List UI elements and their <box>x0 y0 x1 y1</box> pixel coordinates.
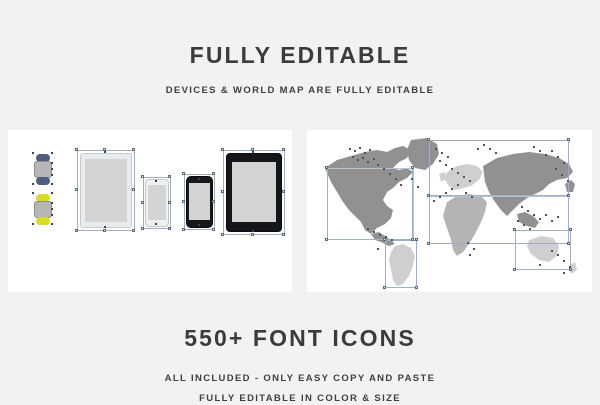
selection-bbox-tablet-light <box>77 150 135 231</box>
page-title-top: FULLY EDITABLE <box>0 42 600 68</box>
handle-s[interactable] <box>103 229 106 232</box>
handle-e2[interactable] <box>51 168 53 170</box>
handle-e[interactable] <box>212 200 215 203</box>
handle-e3[interactable] <box>51 174 53 176</box>
handle-e[interactable] <box>282 190 285 193</box>
devices-panel <box>8 130 292 292</box>
handle-sw[interactable] <box>182 228 185 231</box>
handle-e1[interactable] <box>51 162 53 164</box>
handle-sw[interactable] <box>141 227 144 230</box>
handle-w[interactable] <box>221 190 224 193</box>
handle-ne[interactable] <box>132 148 135 151</box>
region-africa <box>443 194 487 256</box>
handle-se[interactable] <box>212 228 215 231</box>
handle-nw[interactable] <box>32 192 34 194</box>
handle-e[interactable] <box>168 201 171 204</box>
handle-ne[interactable] <box>51 192 53 194</box>
node-home-button[interactable] <box>198 224 200 226</box>
world-map[interactable] <box>307 130 592 292</box>
handle-nw[interactable] <box>141 175 144 178</box>
handle-sw[interactable] <box>221 233 224 236</box>
handle-se[interactable] <box>51 223 53 225</box>
handle-e3[interactable] <box>51 214 53 216</box>
node-home-button[interactable] <box>252 230 254 232</box>
handle-e2[interactable] <box>51 208 53 210</box>
region-central-america <box>371 232 395 246</box>
handle-e[interactable] <box>132 188 135 191</box>
region-north-america <box>325 146 413 234</box>
handle-se[interactable] <box>282 233 285 236</box>
handle-se[interactable] <box>132 229 135 232</box>
node-camera[interactable] <box>104 151 106 153</box>
page-title-bottom: 550+ FONT ICONS <box>0 325 600 351</box>
node-home-button[interactable] <box>104 226 106 228</box>
handle-w[interactable] <box>141 201 144 204</box>
node-speaker[interactable] <box>198 178 200 180</box>
handle-nw[interactable] <box>182 172 185 175</box>
preview-page: FULLY EDITABLE DEVICES & WORLD MAP ARE F… <box>0 0 600 400</box>
handle-e1[interactable] <box>51 202 53 204</box>
region-asia <box>483 152 573 216</box>
handle-ne[interactable] <box>168 175 171 178</box>
handle-w[interactable] <box>75 188 78 191</box>
selection-bbox-phone-dark <box>184 174 215 230</box>
page-subtitle-bottom: ALL INCLUDED - ONLY EASY COPY AND PASTE <box>0 373 600 385</box>
node-camera[interactable] <box>252 151 254 153</box>
device-smartwatch-navy[interactable] <box>34 154 52 184</box>
region-new-zealand <box>569 262 577 274</box>
watch-strap-bottom <box>36 217 50 225</box>
handle-se[interactable] <box>168 227 171 230</box>
handle-sw[interactable] <box>32 183 34 185</box>
handle-sw[interactable] <box>32 223 34 225</box>
handle-w[interactable] <box>182 200 185 203</box>
handle-nw[interactable] <box>221 148 224 151</box>
page-subtitle-top: DEVICES & WORLD MAP ARE FULLY EDITABLE <box>0 85 600 97</box>
region-europe <box>445 164 483 190</box>
handle-nw[interactable] <box>75 148 78 151</box>
device-smartwatch-yellow[interactable] <box>34 194 52 224</box>
node-speaker[interactable] <box>155 180 157 182</box>
region-australia <box>527 236 559 262</box>
handle-ne[interactable] <box>212 172 215 175</box>
region-southeast-asia <box>517 212 539 228</box>
handle-ne[interactable] <box>51 152 53 154</box>
selection-bbox-tablet-dark <box>223 150 285 235</box>
region-japan <box>565 180 575 192</box>
handle-sw[interactable] <box>75 229 78 232</box>
world-map-svg <box>307 130 592 292</box>
watch-body <box>34 201 52 218</box>
region-greenland <box>407 138 439 170</box>
page-subtitle-bottom-2: FULLY EDITABLE IN COLOR & SIZE <box>0 393 600 405</box>
handle-ne[interactable] <box>282 148 285 151</box>
handle-nw[interactable] <box>32 152 34 154</box>
handle-s[interactable] <box>251 233 254 236</box>
watch-strap-bottom <box>36 177 50 185</box>
map-panel <box>307 130 592 292</box>
handle-se[interactable] <box>51 183 53 185</box>
watch-body <box>34 161 52 178</box>
node-home-button[interactable] <box>155 223 157 225</box>
selection-bbox-phone-light <box>143 177 171 229</box>
region-south-america <box>389 244 415 286</box>
